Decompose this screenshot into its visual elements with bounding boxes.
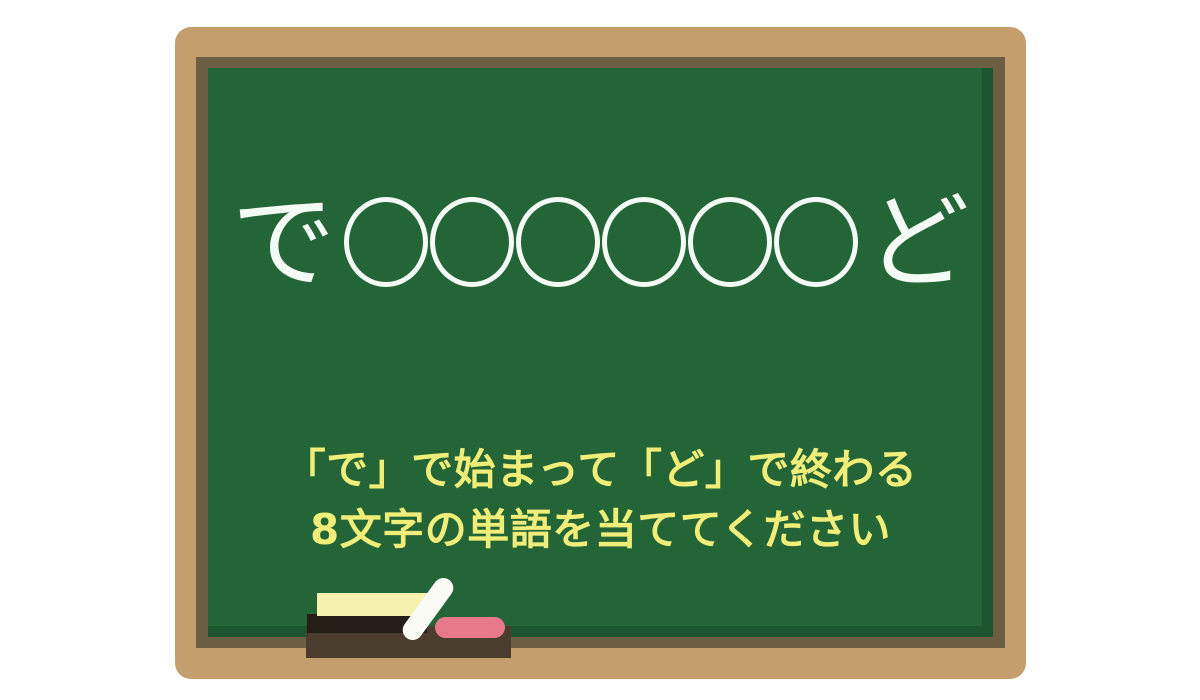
blackboard-scene: で ど 「で」で始まって「ど」で終わる 8文字の単語を当ててください [0, 0, 1200, 700]
instruction-line-1: 「で」で始まって「ど」で終わる [208, 440, 993, 500]
puzzle-blank-group [344, 197, 858, 287]
chalk-tray [306, 593, 511, 658]
puzzle-last-character: ど [866, 190, 970, 294]
puzzle-word-row: で ど [208, 190, 993, 294]
eraser-top [317, 593, 427, 616]
puzzle-blank-slot-5[interactable] [688, 197, 772, 287]
puzzle-blank-slot-4[interactable] [602, 197, 686, 287]
puzzle-blank-slot-3[interactable] [516, 197, 600, 287]
puzzle-blank-slot-1[interactable] [344, 197, 428, 287]
instruction-text: 「で」で始まって「ど」で終わる 8文字の単語を当ててください [208, 440, 993, 559]
puzzle-first-character: で [231, 190, 335, 294]
pink-chalk-icon[interactable] [435, 617, 505, 638]
blackboard-frame: で ど 「で」で始まって「ど」で終わる 8文字の単語を当ててください [175, 27, 1026, 679]
blackboard-surface: で ど 「で」で始まって「ど」で終わる 8文字の単語を当ててください [208, 68, 993, 637]
instruction-line-2: 8文字の単語を当ててください [208, 500, 993, 560]
blackboard-inner-border: で ど 「で」で始まって「ど」で終わる 8文字の単語を当ててください [196, 57, 1005, 648]
puzzle-blank-slot-2[interactable] [430, 197, 514, 287]
puzzle-blank-slot-6[interactable] [774, 197, 858, 287]
